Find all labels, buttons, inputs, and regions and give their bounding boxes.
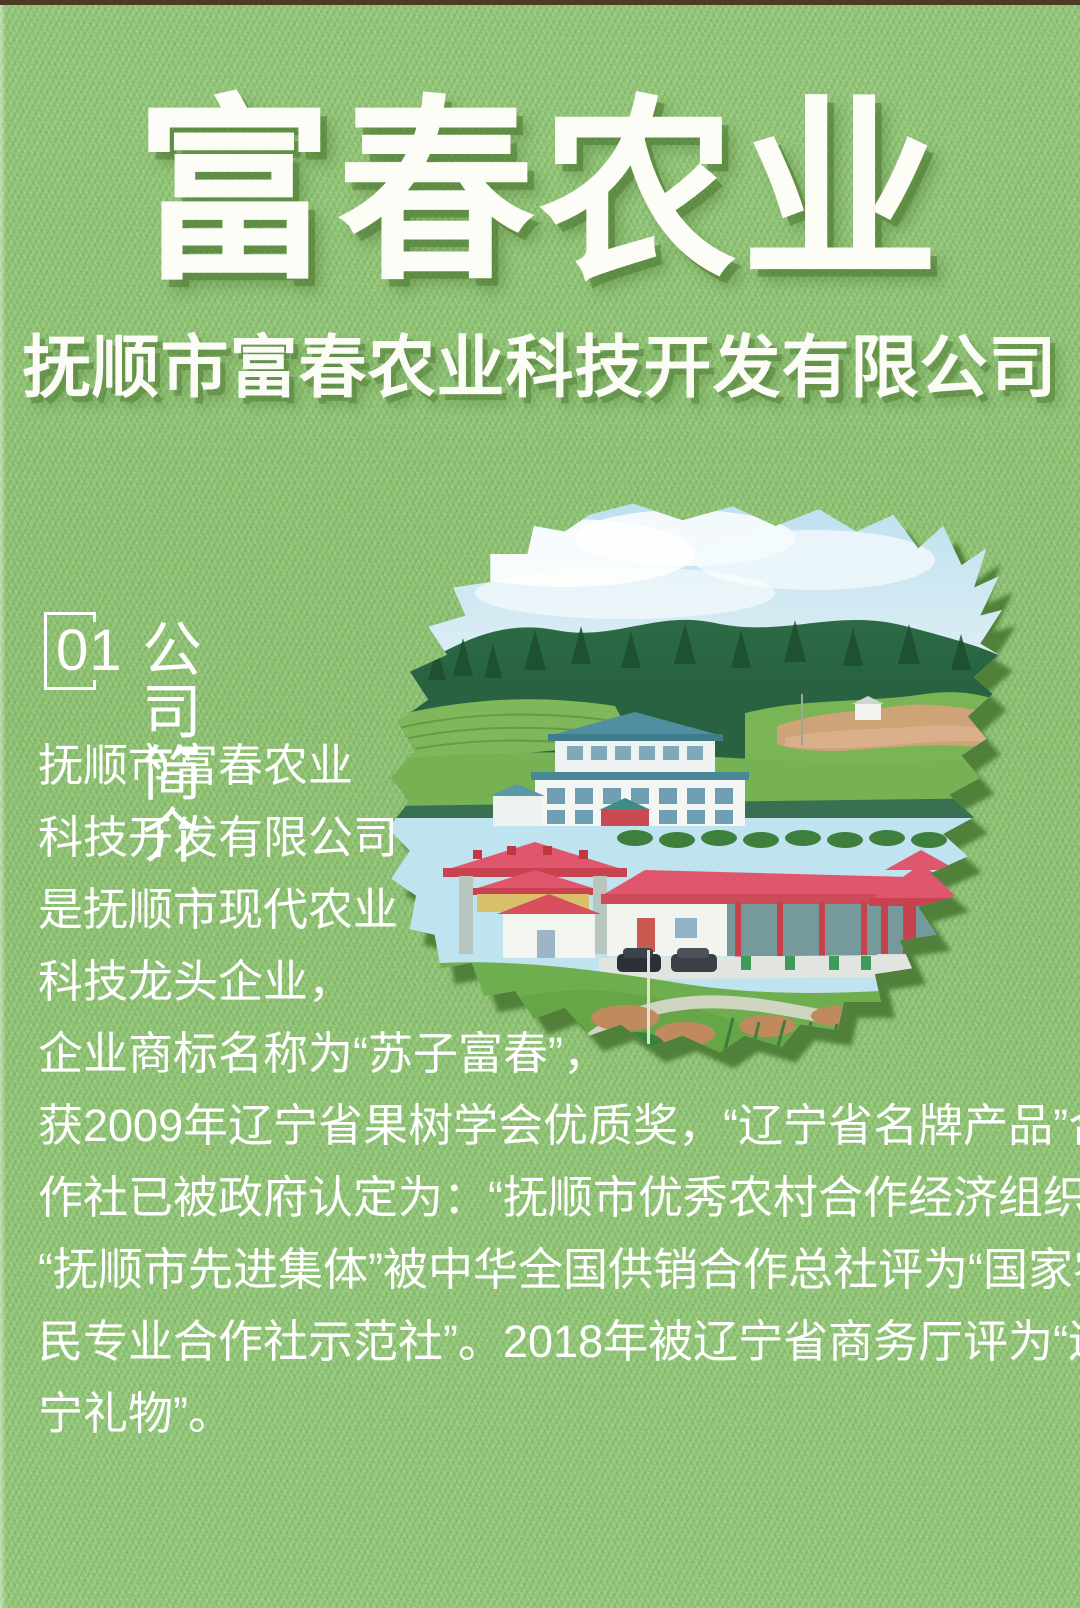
intro-paragraph: 抚顺市富春农业 科技开发有限公司 是抚顺市现代农业 科技龙头企业， 企业商标名称… bbox=[38, 730, 1048, 1450]
intro-line: 抚顺市富春农业 bbox=[38, 730, 1048, 802]
intro-line: 科技龙头企业， bbox=[38, 946, 1048, 1018]
intro-line: 企业商标名称为“苏子富春”， bbox=[38, 1018, 1048, 1090]
intro-line: 获2009年辽宁省果树学会优质奖，“辽宁省名牌产品”合 bbox=[38, 1090, 1048, 1162]
intro-line: 是抚顺市现代农业 bbox=[38, 874, 1048, 946]
left-edge-highlight bbox=[0, 5, 6, 1608]
page-title: 富春农业 bbox=[0, 95, 1080, 291]
top-border-strip bbox=[0, 0, 1080, 5]
intro-line: 民专业合作社示范社”。2018年被辽宁省商务厅评为“辽 bbox=[38, 1306, 1048, 1378]
section-number: 01 bbox=[56, 622, 123, 680]
intro-line: 宁礼物”。 bbox=[38, 1378, 1048, 1450]
company-full-name: 抚顺市富春农业科技开发有限公司 bbox=[0, 330, 1080, 406]
intro-line: 作社已被政府认定为：“抚顺市优秀农村合作经济组织”、 bbox=[38, 1162, 1048, 1234]
intro-line: “抚顺市先进集体”被中华全国供销合作总社评为“国家农 bbox=[38, 1234, 1048, 1306]
intro-line: 科技开发有限公司 bbox=[38, 802, 1048, 874]
poster-root: 富春农业 抚顺市富春农业科技开发有限公司 bbox=[0, 0, 1080, 1608]
